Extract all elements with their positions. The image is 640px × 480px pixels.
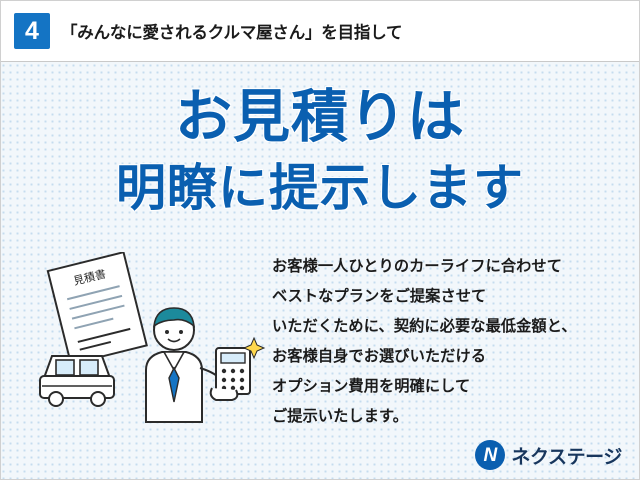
header: 4 「みんなに愛されるクルマ屋さん」を目指して bbox=[0, 0, 640, 62]
brand-logo: N ネクステージ bbox=[475, 440, 622, 470]
logo-mark-letter: N bbox=[475, 440, 505, 470]
body-line: お客様一人ひとりのカーライフに合わせて bbox=[272, 252, 632, 282]
body-line: いただくために、契約に必要な最低金額と、 bbox=[272, 312, 632, 342]
logo-mark-icon: N bbox=[475, 440, 505, 470]
header-badge-number: 4 bbox=[14, 13, 50, 49]
headline-line-1: お見積りは bbox=[0, 84, 640, 150]
headline-line-2: 明瞭に提示します bbox=[0, 159, 640, 217]
headline: お見積りは 明瞭に提示します bbox=[0, 84, 640, 217]
estimate-document-icon: 見積書 bbox=[48, 252, 147, 364]
calculator-icon bbox=[211, 338, 264, 400]
illustration: 見積書 bbox=[30, 252, 270, 427]
body-line: ベストなプランをご提案させて bbox=[272, 282, 632, 312]
main-panel: お見積りは 明瞭に提示します お客様一人ひとりのカーライフに合わせて ベストなプ… bbox=[0, 62, 640, 480]
header-title: 「みんなに愛されるクルマ屋さん」を目指して bbox=[61, 19, 402, 43]
body-line: オプション費用を明確にして bbox=[272, 372, 632, 402]
body-text: お客様一人ひとりのカーライフに合わせて ベストなプランをご提案させて いただくた… bbox=[272, 252, 632, 433]
salesperson-icon bbox=[146, 308, 226, 422]
promotional-banner: 4 「みんなに愛されるクルマ屋さん」を目指して お見積りは 明瞭に提示します お… bbox=[0, 0, 640, 480]
logo-text: ネクステージ bbox=[511, 442, 622, 469]
body-line: ご提示いたします。 bbox=[272, 402, 632, 432]
body-line: お客様自身でお選びいただける bbox=[272, 342, 632, 372]
van-icon bbox=[40, 356, 114, 406]
